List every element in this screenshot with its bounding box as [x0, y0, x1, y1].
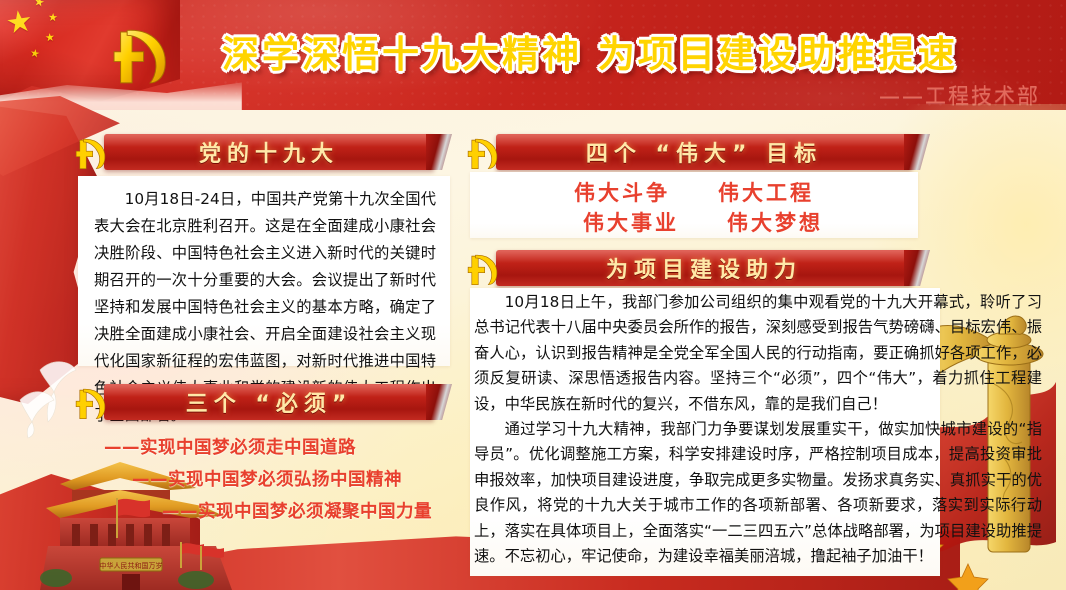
section-title-project-boost: 为项目建设助力 [496, 250, 912, 286]
three-musts-item-3: ——实现中国梦必须凝聚中国力量 [84, 496, 454, 528]
flag-star-small-3: ★ [44, 32, 55, 44]
project-boost-body: 10月18日上午，我部门参加公司组织的集中观看党的十九大开幕式，聆听了习总书记代… [474, 290, 1042, 569]
four-greats-row-2: 伟大事业 伟大梦想 [470, 208, 918, 238]
project-boost-paragraph-1: 10月18日上午，我部门参加公司组织的集中观看党的十九大开幕式，聆听了习总书记代… [474, 290, 1042, 417]
poster-header: ★ ★ ★ ★ ★ 深学深悟十九大精神 为项目建设助推提速 [0, 0, 1066, 110]
section-bar-three-musts: 三个 “必须” [62, 378, 454, 426]
three-musts-item-2: ——实现中国梦必须弘扬中国精神 [84, 464, 454, 496]
three-musts-item-1: ——实现中国梦必须走中国道路 [84, 432, 454, 464]
three-musts-list: ——实现中国梦必须走中国道路 ——实现中国梦必须弘扬中国精神 ——实现中国梦必须… [84, 432, 454, 528]
section-bar-four-greats: 四个 “伟大” 目标 [454, 128, 924, 176]
section-bar-background-4: 为项目建设助力 [496, 250, 912, 286]
four-greats-row-1: 伟大斗争 伟大工程 [470, 178, 918, 208]
flag-star-large: ★ [4, 6, 35, 39]
party-emblem-icon-3 [454, 130, 508, 176]
party-hammer-sickle-emblem-icon [96, 14, 178, 96]
section-bar-background-3: 四个 “伟大” 目标 [496, 134, 912, 170]
party-emblem-icon-2 [62, 380, 116, 426]
party-emblem-icon-1 [62, 130, 116, 176]
section-title-four-greats: 四个 “伟大” 目标 [496, 134, 912, 170]
four-greats-list: 伟大斗争 伟大工程 伟大事业 伟大梦想 [470, 178, 918, 238]
flag-star-small-1: ★ [33, 0, 46, 9]
flag-star-small-2: ★ [48, 12, 59, 24]
section-bar-project-boost: 为项目建设助力 [454, 244, 924, 292]
section-title-three-musts: 三个 “必须” [104, 384, 434, 420]
poster-canvas: ★ ★ ★ ★ ★ 深学深悟十九大精神 为项目建设助推提速 [0, 0, 1066, 590]
tiananmen-plaque-text: 中华人民共和国万岁 [100, 561, 163, 570]
flag-star-small-4: ★ [29, 47, 41, 60]
section-title-party-congress: 党的十九大 [104, 134, 434, 170]
section-bar-background-1: 党的十九大 [104, 134, 434, 170]
party-emblem-icon-4 [454, 246, 508, 292]
section-bar-party-congress: 党的十九大 [62, 128, 454, 176]
section-bar-background-2: 三个 “必须” [104, 384, 434, 420]
page-title: 深学深悟十九大精神 为项目建设助推提速 [190, 24, 990, 78]
project-boost-paragraph-2: 通过学习十九大精神，我部门力争要谋划发展重实干，做实加快城市建设的“指导员”。优… [474, 417, 1042, 569]
